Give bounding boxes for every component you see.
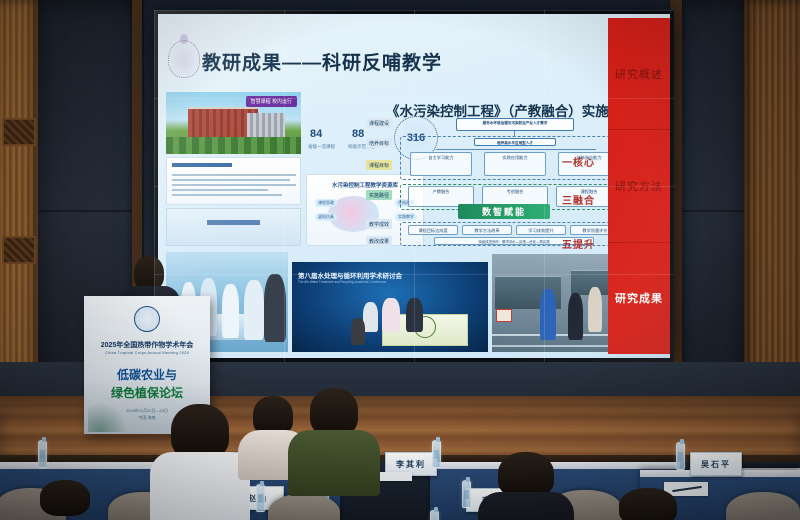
nav-item-research-results[interactable]: 研究成果	[608, 243, 670, 354]
water-bottle	[462, 480, 471, 508]
slide-title: 教研成果——科研反哺教学	[202, 48, 442, 75]
doc-line	[172, 194, 282, 196]
core-box-1: 自主学习能力	[410, 152, 472, 176]
water-bottle	[432, 440, 441, 468]
slide-section-nav: 研究概述 研究方法 研究成果	[608, 18, 670, 354]
conference-photo-caption: 第八届水处理与循环利用学术研讨会	[298, 270, 402, 280]
conference-group-photo: 第八届水处理与循环利用学术研讨会 The 8th Water Treatment…	[292, 262, 488, 352]
podium-cn-title: 2025年全国热带作物学术年会	[101, 340, 194, 350]
water-bottle	[256, 484, 265, 512]
person-head	[310, 388, 358, 436]
platform-chip-2: 虚拟仿真	[315, 213, 337, 221]
bottom-box-2: 教学方法改革	[462, 225, 512, 235]
wood-slat-panel-right	[744, 0, 800, 400]
doc-line	[172, 189, 268, 191]
person-torso-green-jacket	[288, 430, 380, 496]
conf-person	[382, 298, 400, 332]
placard-name-text: 吴石平	[701, 459, 731, 470]
chair	[268, 494, 340, 520]
conf-child	[351, 318, 365, 345]
visit-person	[568, 293, 583, 340]
placard-name-text: 李其利	[396, 459, 426, 470]
led-display-screen: 教研成果——科研反哺教学 《水污染控制工程》（产教融合）实施路径 智慧课程 校内…	[154, 10, 674, 362]
core-group-title: 培养高水平应用型人才	[474, 138, 556, 146]
bottom-box-1: 课程目标达成度	[408, 225, 458, 235]
name-placard-wushiping: 吴石平	[690, 452, 742, 476]
flow-tag-2: 培养目标	[366, 138, 392, 148]
conference-emblem-icon	[134, 306, 160, 332]
water-drop-logo-icon	[168, 40, 200, 78]
campus-building-photo: 智慧课程 校内运行	[166, 92, 301, 154]
flow-tag-4: 实施路径	[366, 190, 392, 200]
doc-line	[172, 179, 290, 181]
water-bottle	[430, 510, 439, 520]
person-head	[619, 488, 677, 520]
nav-item-research-overview[interactable]: 研究概述	[608, 18, 670, 130]
conference-hall-photo: 教研成果——科研反哺教学 《水污染控制工程》（产教融合）实施路径 智慧课程 校内…	[0, 0, 800, 520]
presentation-slide: 教研成果——科研反哺教学 《水污染控制工程》（产教融合）实施路径 智慧课程 校内…	[158, 14, 670, 358]
panel-seam	[38, 210, 144, 212]
audience-person-4	[478, 452, 574, 520]
pillar-label-3: 五提升	[562, 236, 595, 251]
podium-theme-line-1: 低碳农业与	[117, 366, 177, 383]
lab-person-dark	[264, 274, 286, 342]
visit-person	[588, 287, 602, 332]
doc-line	[172, 174, 296, 176]
audience-person-6	[22, 480, 108, 520]
platform-chip-1: 课程思政	[315, 199, 337, 207]
water-bottle	[676, 442, 685, 470]
pillar-label-1: 一核心	[562, 154, 595, 169]
podium-theme-line-2: 绿色植保论坛	[111, 384, 183, 401]
lab-person	[244, 280, 264, 340]
metric-caption-1: 省级一流课程	[308, 144, 335, 150]
doc-line	[172, 184, 296, 186]
person-torso	[478, 492, 574, 520]
audience-person-1	[150, 404, 250, 520]
speaker-head	[134, 256, 164, 290]
audience-person-5	[600, 488, 696, 520]
doc-header-bar	[172, 163, 232, 167]
flow-header-box: 服务水环境治理与污染防治产业人才需求	[456, 118, 574, 131]
visit-person	[540, 289, 555, 340]
lab-person	[222, 284, 239, 338]
core-box-2: 实践应用能力	[484, 152, 546, 176]
water-bottle	[38, 440, 47, 468]
conf-person	[363, 302, 379, 333]
metric-value-1: 84	[310, 128, 322, 140]
carved-wood-ornament	[2, 118, 36, 146]
audience-person-3	[288, 388, 380, 492]
campus-trees	[166, 137, 301, 154]
wood-slat-panel-left	[0, 0, 38, 400]
course-thumbnail	[166, 208, 301, 246]
conf-person	[406, 298, 424, 332]
connector-bus	[436, 149, 596, 150]
podium-palm-graphic	[88, 402, 128, 432]
thumbnail-band	[207, 220, 260, 225]
pillar-label-2: 三融合	[562, 192, 595, 207]
person-torso	[150, 452, 250, 520]
course-document-screenshot	[166, 157, 301, 205]
bottom-box-3: 学习成效提升	[516, 225, 566, 235]
paper-sheet	[380, 472, 412, 481]
person-head	[40, 480, 90, 516]
nav-item-research-method[interactable]: 研究方法	[608, 130, 670, 242]
flow-tag-1: 课程建设	[366, 118, 392, 128]
flow-tag-3: 课程目标	[366, 160, 392, 170]
podium-en-title: China Tropical Crops Annual Meeting 2025	[105, 350, 189, 355]
warning-sign-icon	[496, 309, 512, 322]
flow-tag-5: 教学成效	[366, 219, 392, 229]
digital-empowerment-band: 数智赋能	[458, 204, 550, 219]
chair	[726, 492, 800, 520]
flow-tag-6: 教改成果	[366, 236, 392, 246]
conference-photo-subcaption: The 8th Water Treatment and Recycling Ac…	[298, 280, 386, 284]
carved-wood-ornament-lower	[2, 236, 36, 264]
metric-value-2: 88	[352, 128, 364, 140]
smart-course-badge: 智慧课程 校内运行	[246, 96, 297, 107]
